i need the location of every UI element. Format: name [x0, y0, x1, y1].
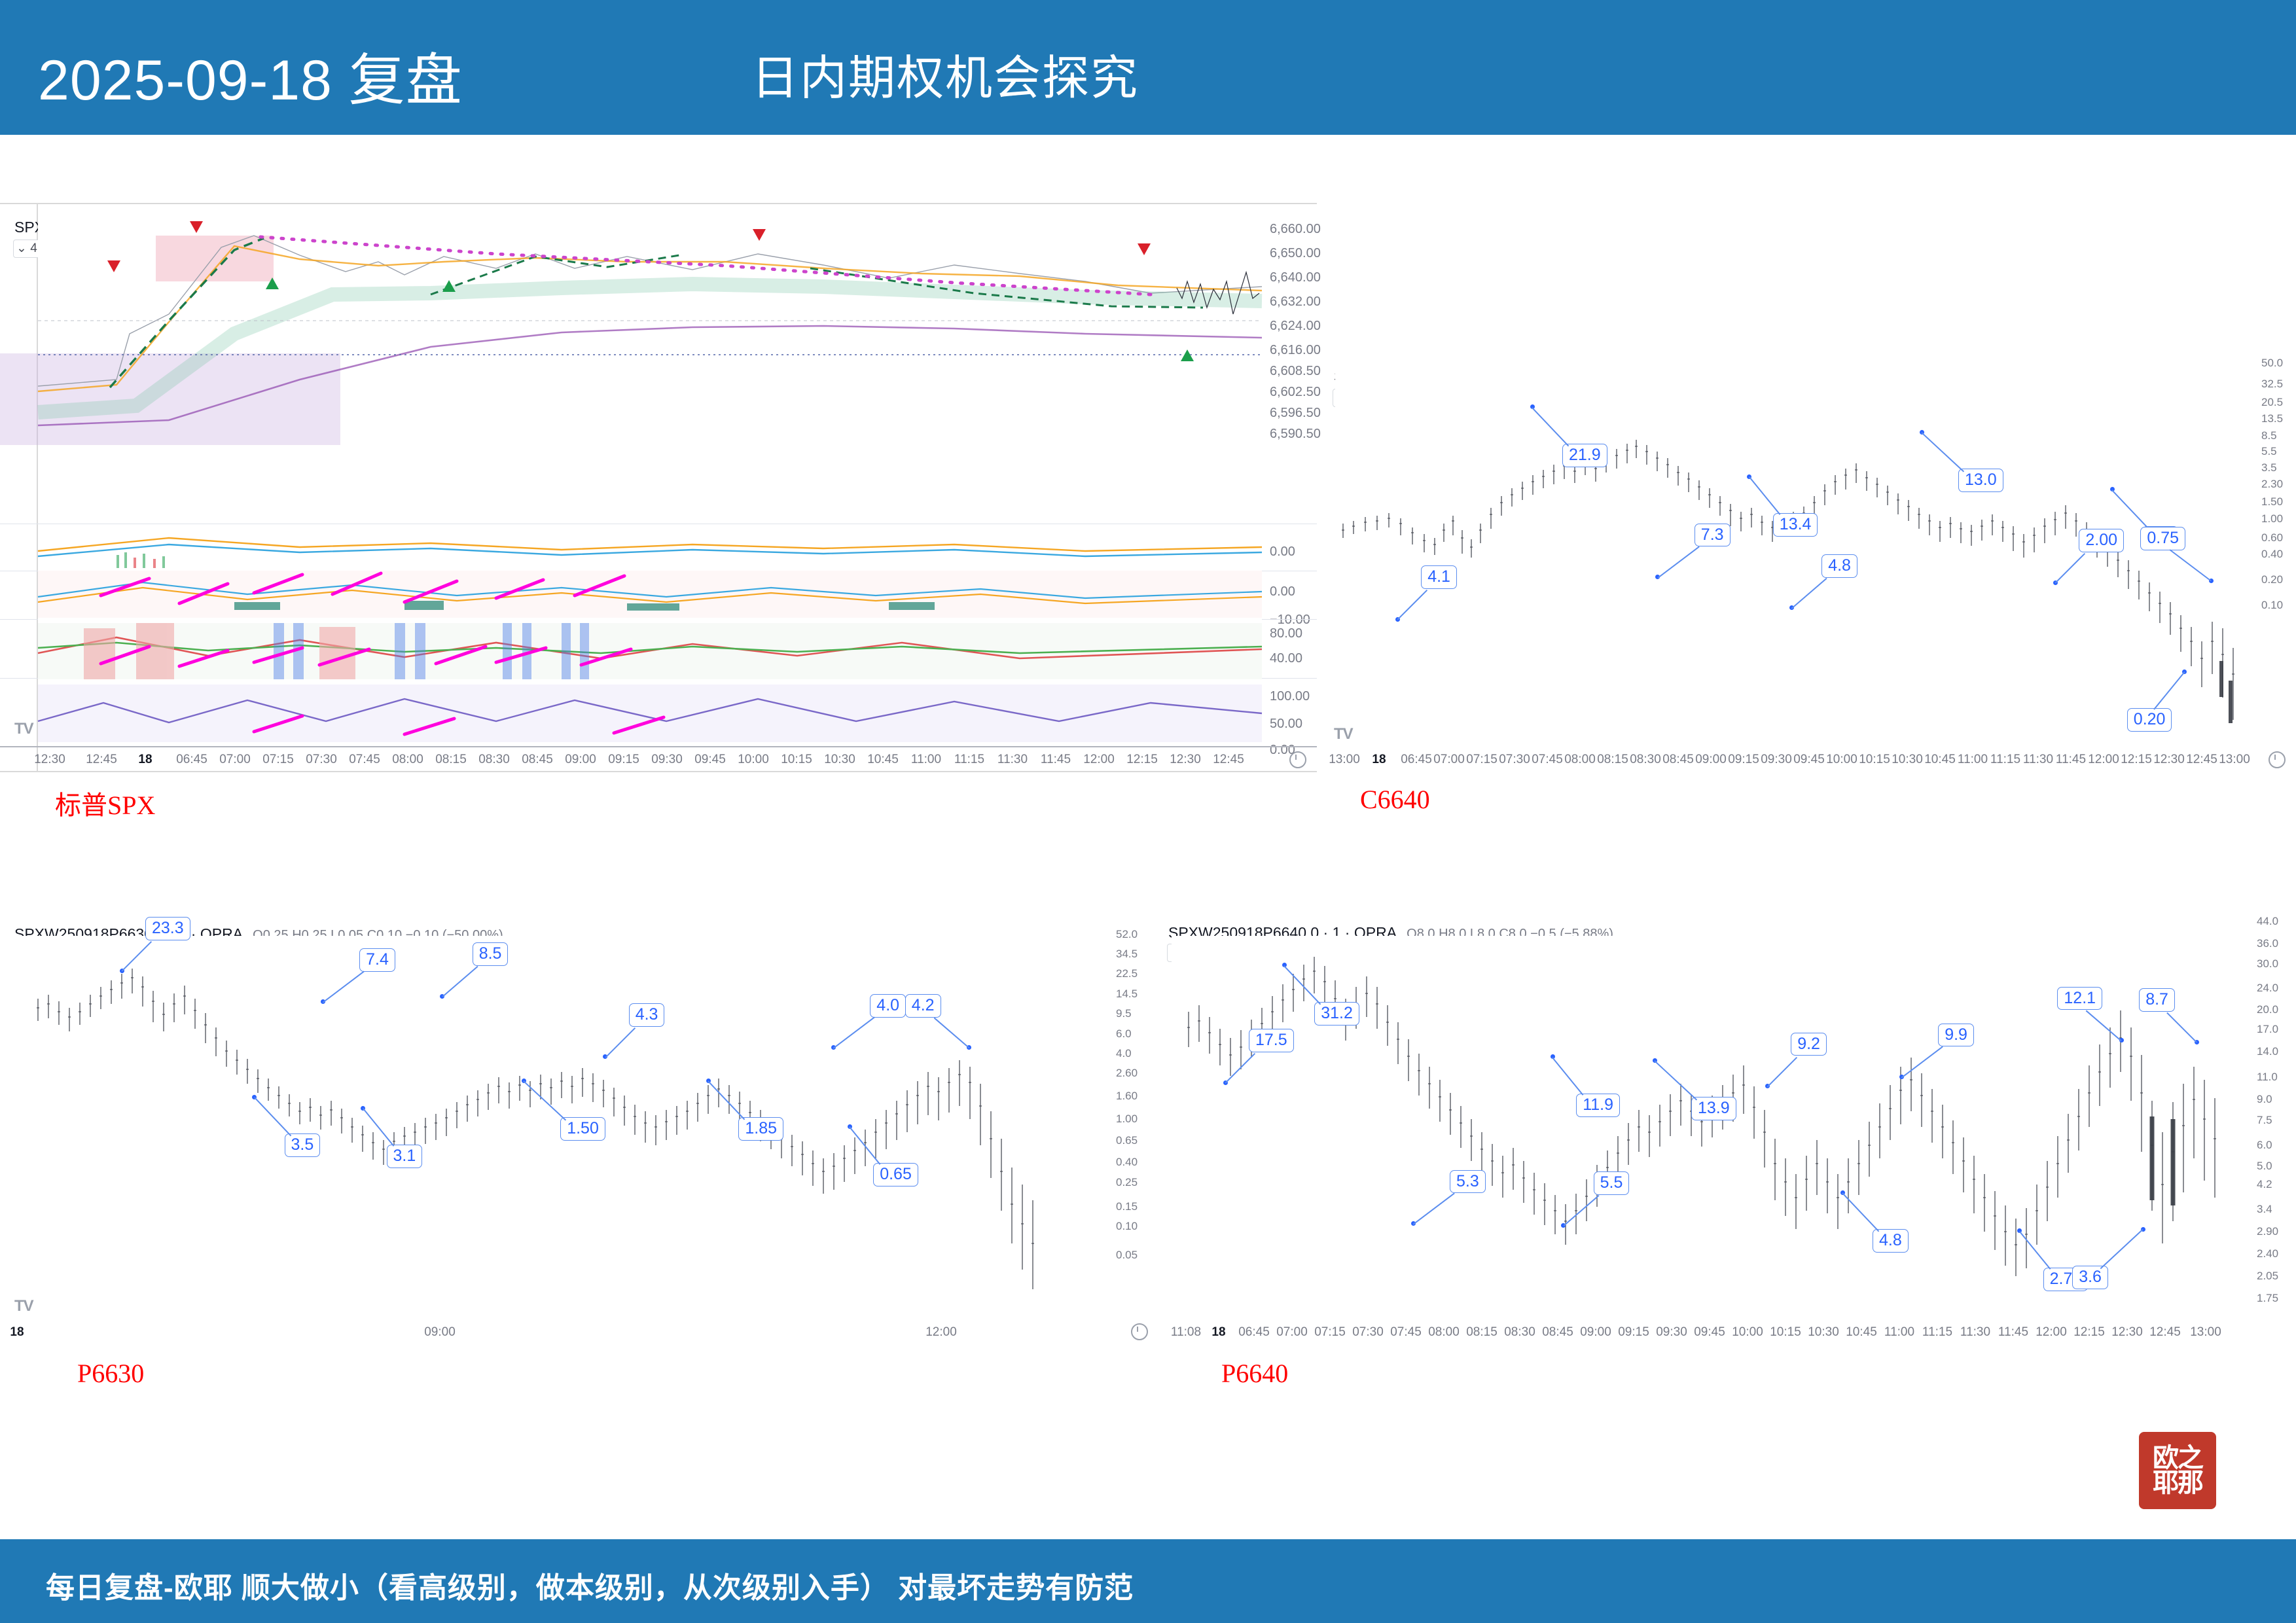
p6640-time-tick: 09:00 [1580, 1325, 1611, 1340]
c6640-time-tick: 07:30 [1499, 753, 1530, 767]
c6640-time-tick: 09:15 [1728, 753, 1759, 767]
c6640-time-tick: 09:45 [1793, 753, 1825, 767]
c6640-price-tick: 5.5 [2261, 445, 2277, 458]
page-subtitle: 日内期权机会探究 [751, 39, 1139, 108]
p6640-time-tick: 10:00 [1732, 1325, 1763, 1340]
annotation-callout[interactable]: 23.3 [145, 917, 190, 940]
footer-text: 每日复盘-欧耶 顺大做小（看高级别，做本级别，从次级别入手） 对最坏走势有防范 [46, 1564, 1134, 1606]
p6640-time-tick: 10:15 [1770, 1325, 1801, 1340]
annotation-callout[interactable]: 12.1 [2057, 987, 2102, 1010]
p6630-price-tick: 22.5 [1116, 967, 1138, 980]
c6640-time-tick: 10:30 [1892, 753, 1923, 767]
c6640-time-tick: 12:30 [2153, 753, 2185, 767]
annotation-callout[interactable]: 0.75 [2140, 527, 2185, 550]
spx-time-tick: 09:15 [608, 753, 639, 767]
p6640-price-tick: 2.40 [2257, 1247, 2278, 1260]
spx-time-tick: 09:45 [694, 753, 726, 767]
p6630-price-tick: 0.05 [1116, 1249, 1138, 1262]
spx-price-tick: 6,640.00 [1270, 270, 1321, 285]
spx-time-tick: 10:45 [867, 753, 899, 767]
c6640-price-tick: 1.50 [2261, 495, 2283, 508]
p6640-time-tick: 11:08 [1171, 1325, 1201, 1340]
spx-time-tick: 11:30 [997, 753, 1028, 767]
c6640-price-tick: 0.40 [2261, 548, 2283, 561]
spx-price-tick: 6,624.00 [1270, 319, 1321, 334]
spx-price-tick: 6,632.00 [1270, 294, 1321, 310]
p6630-price-tick: 2.60 [1116, 1067, 1138, 1080]
annotation-callout[interactable]: 0.65 [873, 1163, 918, 1186]
p6640-price-tick: 30.0 [2257, 957, 2278, 971]
spx-indicator-panes [38, 525, 1262, 746]
annotation-callout[interactable]: 31.2 [1314, 1002, 1359, 1026]
spx-indicator-tick: 100.00 [1270, 689, 1310, 704]
spx-plot-area[interactable] [38, 216, 1262, 524]
c6640-price-tick: 20.5 [2261, 396, 2283, 409]
spx-time-tick: 12:00 [1083, 753, 1115, 767]
annotation-callout[interactable]: 0.20 [2127, 708, 2172, 732]
annotation-callout[interactable]: 13.9 [1691, 1097, 1736, 1120]
c6640-time-tick: 12:45 [2186, 753, 2217, 767]
p6640-time-tick: 07:30 [1352, 1325, 1384, 1340]
c6640-time-tick: 07:15 [1466, 753, 1498, 767]
c6640-price-tick: 0.20 [2261, 573, 2283, 586]
p6640-time-tick: 08:45 [1542, 1325, 1573, 1340]
spx-time-tick: 08:30 [478, 753, 510, 767]
p6640-time-tick: 12:00 [2036, 1325, 2067, 1340]
c6640-price-tick: 0.60 [2261, 531, 2283, 544]
annotation-callout[interactable]: 13.0 [1958, 469, 2003, 492]
p6640-price-tick: 9.0 [2257, 1093, 2272, 1106]
c6640-time-tick: 08:00 [1564, 753, 1596, 767]
p6640-time-tick: 08:30 [1504, 1325, 1535, 1340]
p6640-time-tick: 07:45 [1390, 1325, 1422, 1340]
c6640-time-tick: 10:00 [1826, 753, 1857, 767]
annotation-callout[interactable]: 1.85 [738, 1117, 783, 1141]
p6630-caption: P6630 [77, 1358, 144, 1389]
spx-time-tick: 12:30 [1170, 753, 1201, 767]
spx-time-tick: 09:30 [651, 753, 683, 767]
spx-time-tick: 07:45 [349, 753, 380, 767]
p6640-price-tick: 17.0 [2257, 1023, 2278, 1036]
annotation-callout[interactable]: 7.4 [359, 948, 395, 972]
spx-time-tick: 12:45 [1213, 753, 1244, 767]
c6640-price-tick: 3.5 [2261, 461, 2277, 474]
c6640-time-tick: 11:30 [2023, 753, 2053, 767]
spx-time-tick: 08:45 [522, 753, 553, 767]
spx-time-tick: 07:30 [306, 753, 337, 767]
c6640-time-tick: 08:15 [1597, 753, 1628, 767]
spx-indicator-tick: 0.00 [1270, 544, 1295, 560]
annotation-callout[interactable]: 11.9 [1576, 1094, 1620, 1117]
p6640-clock-icon[interactable] [1131, 1323, 1148, 1340]
c6640-time-tick: 12:15 [2121, 753, 2152, 767]
annotation-callout[interactable]: 4.2 [905, 994, 941, 1018]
annotation-callout[interactable]: 5.3 [1450, 1170, 1486, 1194]
spx-time-tick: 08:00 [392, 753, 423, 767]
p6640-price-tick: 2.05 [2257, 1270, 2278, 1283]
spx-time-tick: 11:15 [954, 753, 984, 767]
spx-indicator-tick: 50.00 [1270, 717, 1302, 732]
p6640-time-tick: 08:15 [1466, 1325, 1498, 1340]
annotation-callout[interactable]: 9.2 [1791, 1033, 1827, 1056]
p6640-caption: P6640 [1221, 1358, 1288, 1389]
spx-time-tick: 12:30 [34, 753, 65, 767]
p6630-price-tick: 4.0 [1116, 1047, 1132, 1060]
spx-time-tick: 10:30 [824, 753, 855, 767]
p6640-time-tick: 11:30 [1960, 1325, 1990, 1340]
p6640-time-tick: 11:15 [1922, 1325, 1952, 1340]
p6640-time-tick: 12:15 [2073, 1325, 2105, 1340]
c6640-caption: C6640 [1360, 784, 1430, 815]
p6630-price-tick: 0.40 [1116, 1156, 1138, 1169]
spx-time-tick: 07:00 [219, 753, 251, 767]
c6640-time-tick: 11:15 [1990, 753, 2020, 767]
annotation-callout[interactable]: 4.0 [870, 994, 906, 1018]
c6640-time-tick: 13:00 [2219, 753, 2250, 767]
c6640-time-tick: 12:00 [2088, 753, 2119, 767]
spx-indicator-tick: 0.00 [1270, 584, 1295, 599]
page-title: 2025-09-18 复盘 [38, 34, 463, 116]
p6640-time-tick: 12:30 [2111, 1325, 2143, 1340]
c6640-time-tick: 09:00 [1695, 753, 1727, 767]
p6630-price-tick: 0.10 [1116, 1220, 1138, 1233]
c6640-time-tick: 09:30 [1761, 753, 1792, 767]
annotation-callout[interactable]: 3.1 [387, 1145, 423, 1168]
annotation-callout[interactable]: 5.5 [1594, 1171, 1630, 1195]
c6640-time-tick: 07:00 [1433, 753, 1465, 767]
spx-axis-line [0, 746, 1317, 747]
p6640-time-tick: 10:30 [1808, 1325, 1839, 1340]
p6640-price-tick: 14.0 [2257, 1045, 2278, 1058]
spx-price-tick: 6,596.50 [1270, 406, 1321, 421]
p6640-price-tick: 6.0 [2257, 1139, 2272, 1152]
p6640-time-tick: 09:15 [1618, 1325, 1649, 1340]
p6640-time-tick: 11:45 [1998, 1325, 2028, 1340]
c6640-time-tick: 10:15 [1859, 753, 1890, 767]
spx-caption: 标普SPX [55, 784, 155, 822]
p6640-price-tick: 2.90 [2257, 1225, 2278, 1238]
p6640-price-tick: 4.2 [2257, 1178, 2272, 1191]
p6640-time-tick: 08:00 [1428, 1325, 1460, 1340]
p6640-price-tick: 7.5 [2257, 1114, 2272, 1127]
annotation-callout[interactable]: 3.6 [2072, 1266, 2108, 1289]
c6640-plot-area[interactable] [1335, 366, 2251, 753]
c6640-time-tick: 06:45 [1401, 753, 1432, 767]
spx-time-tick: 10:00 [738, 753, 769, 767]
p6640-price-tick: 44.0 [2257, 915, 2278, 928]
chevron-down-icon: ⌄ [16, 241, 27, 255]
c6640-price-tick: 8.5 [2261, 429, 2277, 442]
c6640-time-tick: 13:00 [1329, 753, 1360, 767]
annotation-callout[interactable]: 2.00 [2079, 529, 2124, 552]
c6640-clock-icon[interactable] [2269, 751, 2286, 768]
c6640-tradingview-logo: TV [1334, 725, 1353, 743]
p6630-price-tick: 1.00 [1116, 1113, 1138, 1126]
annotation-callout[interactable]: 4.3 [629, 1003, 665, 1027]
p6640-time-tick: 10:45 [1846, 1325, 1877, 1340]
annotation-callout[interactable]: 8.5 [473, 942, 509, 966]
spx-panel-top-border [0, 203, 1317, 204]
spx-time-tick: 10:15 [781, 753, 812, 767]
spx-panel-bottom-border [0, 771, 1317, 772]
spx-clock-icon[interactable] [1289, 751, 1306, 768]
c6640-price-tick: 50.0 [2261, 357, 2283, 370]
annotation-callout[interactable]: 7.3 [1695, 524, 1731, 547]
spx-time-tick: 06:45 [176, 753, 207, 767]
c6640-price-tick: 1.00 [2261, 512, 2283, 526]
annotation-callout[interactable]: 8.7 [2139, 988, 2175, 1012]
p6640-time-tick: 09:30 [1656, 1325, 1687, 1340]
c6640-time-tick: 10:45 [1924, 753, 1956, 767]
c6640-price-tick: 13.5 [2261, 412, 2283, 425]
p6640-price-tick: 24.0 [2257, 982, 2278, 995]
p6640-price-tick: 5.0 [2257, 1160, 2272, 1173]
p6640-price-tick: 11.0 [2257, 1071, 2278, 1084]
c6640-price-tick: 32.5 [2261, 378, 2283, 391]
spx-time-tick: 09:00 [565, 753, 596, 767]
p6630-price-tick: 34.5 [1116, 948, 1138, 961]
p6630-time-tick-day: 18 [10, 1325, 24, 1340]
p6630-price-tick: 9.5 [1116, 1007, 1132, 1020]
p6630-price-tick: 1.60 [1116, 1090, 1138, 1103]
spx-aggregation-value: 4 [30, 241, 37, 255]
spx-time-tick: 08:15 [435, 753, 467, 767]
annotation-callout[interactable]: 4.8 [1821, 554, 1857, 578]
spx-time-tick: 11:00 [911, 753, 941, 767]
p6630-price-tick: 0.25 [1116, 1176, 1138, 1189]
p6630-tradingview-logo: TV [14, 1297, 33, 1315]
p6640-price-tick: 20.0 [2257, 1003, 2278, 1016]
p6630-price-tick: 14.5 [1116, 988, 1138, 1001]
spx-price-tick: 6,650.00 [1270, 246, 1321, 261]
c6640-price-tick: 2.30 [2261, 478, 2283, 491]
c6640-price-tick: 0.10 [2261, 599, 2283, 612]
annotation-callout[interactable]: 4.1 [1421, 565, 1457, 589]
p6640-price-tick: 36.0 [2257, 937, 2278, 950]
p6630-plot-area[interactable] [13, 936, 1100, 1302]
p6640-time-tick-day: 18 [1211, 1325, 1225, 1340]
spx-time-tick-day: 18 [138, 753, 152, 767]
spx-price-tick: 6,608.50 [1270, 364, 1321, 379]
spx-price-tick: 6,590.50 [1270, 427, 1321, 442]
annotation-callout[interactable]: 17.5 [1249, 1029, 1294, 1052]
p6640-price-tick: 3.4 [2257, 1203, 2272, 1216]
p6630-price-tick: 6.0 [1116, 1027, 1132, 1041]
spx-price-tick: 6,616.00 [1270, 343, 1321, 358]
annotation-callout[interactable]: 13.4 [1773, 513, 1818, 537]
spx-price-tick: 6,602.50 [1270, 385, 1321, 400]
p6630-price-tick: 0.65 [1116, 1134, 1138, 1147]
c6640-time-tick: 11:45 [2056, 753, 2086, 767]
spx-indicator-tick: 80.00 [1270, 626, 1302, 641]
annotation-callout[interactable]: 21.9 [1562, 444, 1607, 467]
spx-time-tick: 12:15 [1126, 753, 1158, 767]
c6640-time-tick: 08:45 [1662, 753, 1694, 767]
annotation-callout[interactable]: 4.8 [1873, 1229, 1909, 1253]
p6640-time-tick: 09:45 [1694, 1325, 1725, 1340]
p6640-time-tick: 11:00 [1884, 1325, 1914, 1340]
p6640-time-tick: 12:45 [2149, 1325, 2181, 1340]
spx-tradingview-logo: TV [14, 720, 33, 738]
annotation-callout[interactable]: 3.5 [285, 1133, 321, 1157]
p6640-time-tick: 06:45 [1238, 1325, 1270, 1340]
spx-time-tick: 07:15 [262, 753, 294, 767]
c6640-time-tick-day: 18 [1372, 753, 1386, 767]
p6630-price-tick: 0.15 [1116, 1200, 1138, 1213]
c6640-time-tick: 07:45 [1532, 753, 1563, 767]
author-stamp: 欧之耶那 [2139, 1432, 2216, 1509]
spx-time-tick: 12:45 [86, 753, 117, 767]
p6630-price-tick: 52.0 [1116, 928, 1138, 941]
spx-time-tick: 11:45 [1041, 753, 1071, 767]
spx-price-tick: 6,660.00 [1270, 222, 1321, 237]
p6630-time-tick: 12:00 [925, 1325, 957, 1340]
spx-indicator-tick: 40.00 [1270, 651, 1302, 666]
c6640-time-tick: 08:30 [1630, 753, 1661, 767]
annotation-callout[interactable]: 9.9 [1938, 1024, 1974, 1047]
spx-indicator-tick: −10.00 [1270, 613, 1310, 628]
c6640-time-tick: 11:00 [1958, 753, 1988, 767]
spx-pane-divider [0, 524, 1317, 524]
p6640-time-tick: 07:15 [1314, 1325, 1346, 1340]
annotation-callout[interactable]: 1.50 [560, 1117, 605, 1141]
p6640-price-tick: 1.75 [2257, 1292, 2278, 1305]
p6630-time-tick: 09:00 [424, 1325, 456, 1340]
p6640-time-tick: 07:00 [1276, 1325, 1308, 1340]
p6640-time-tick: 13:00 [2190, 1325, 2221, 1340]
